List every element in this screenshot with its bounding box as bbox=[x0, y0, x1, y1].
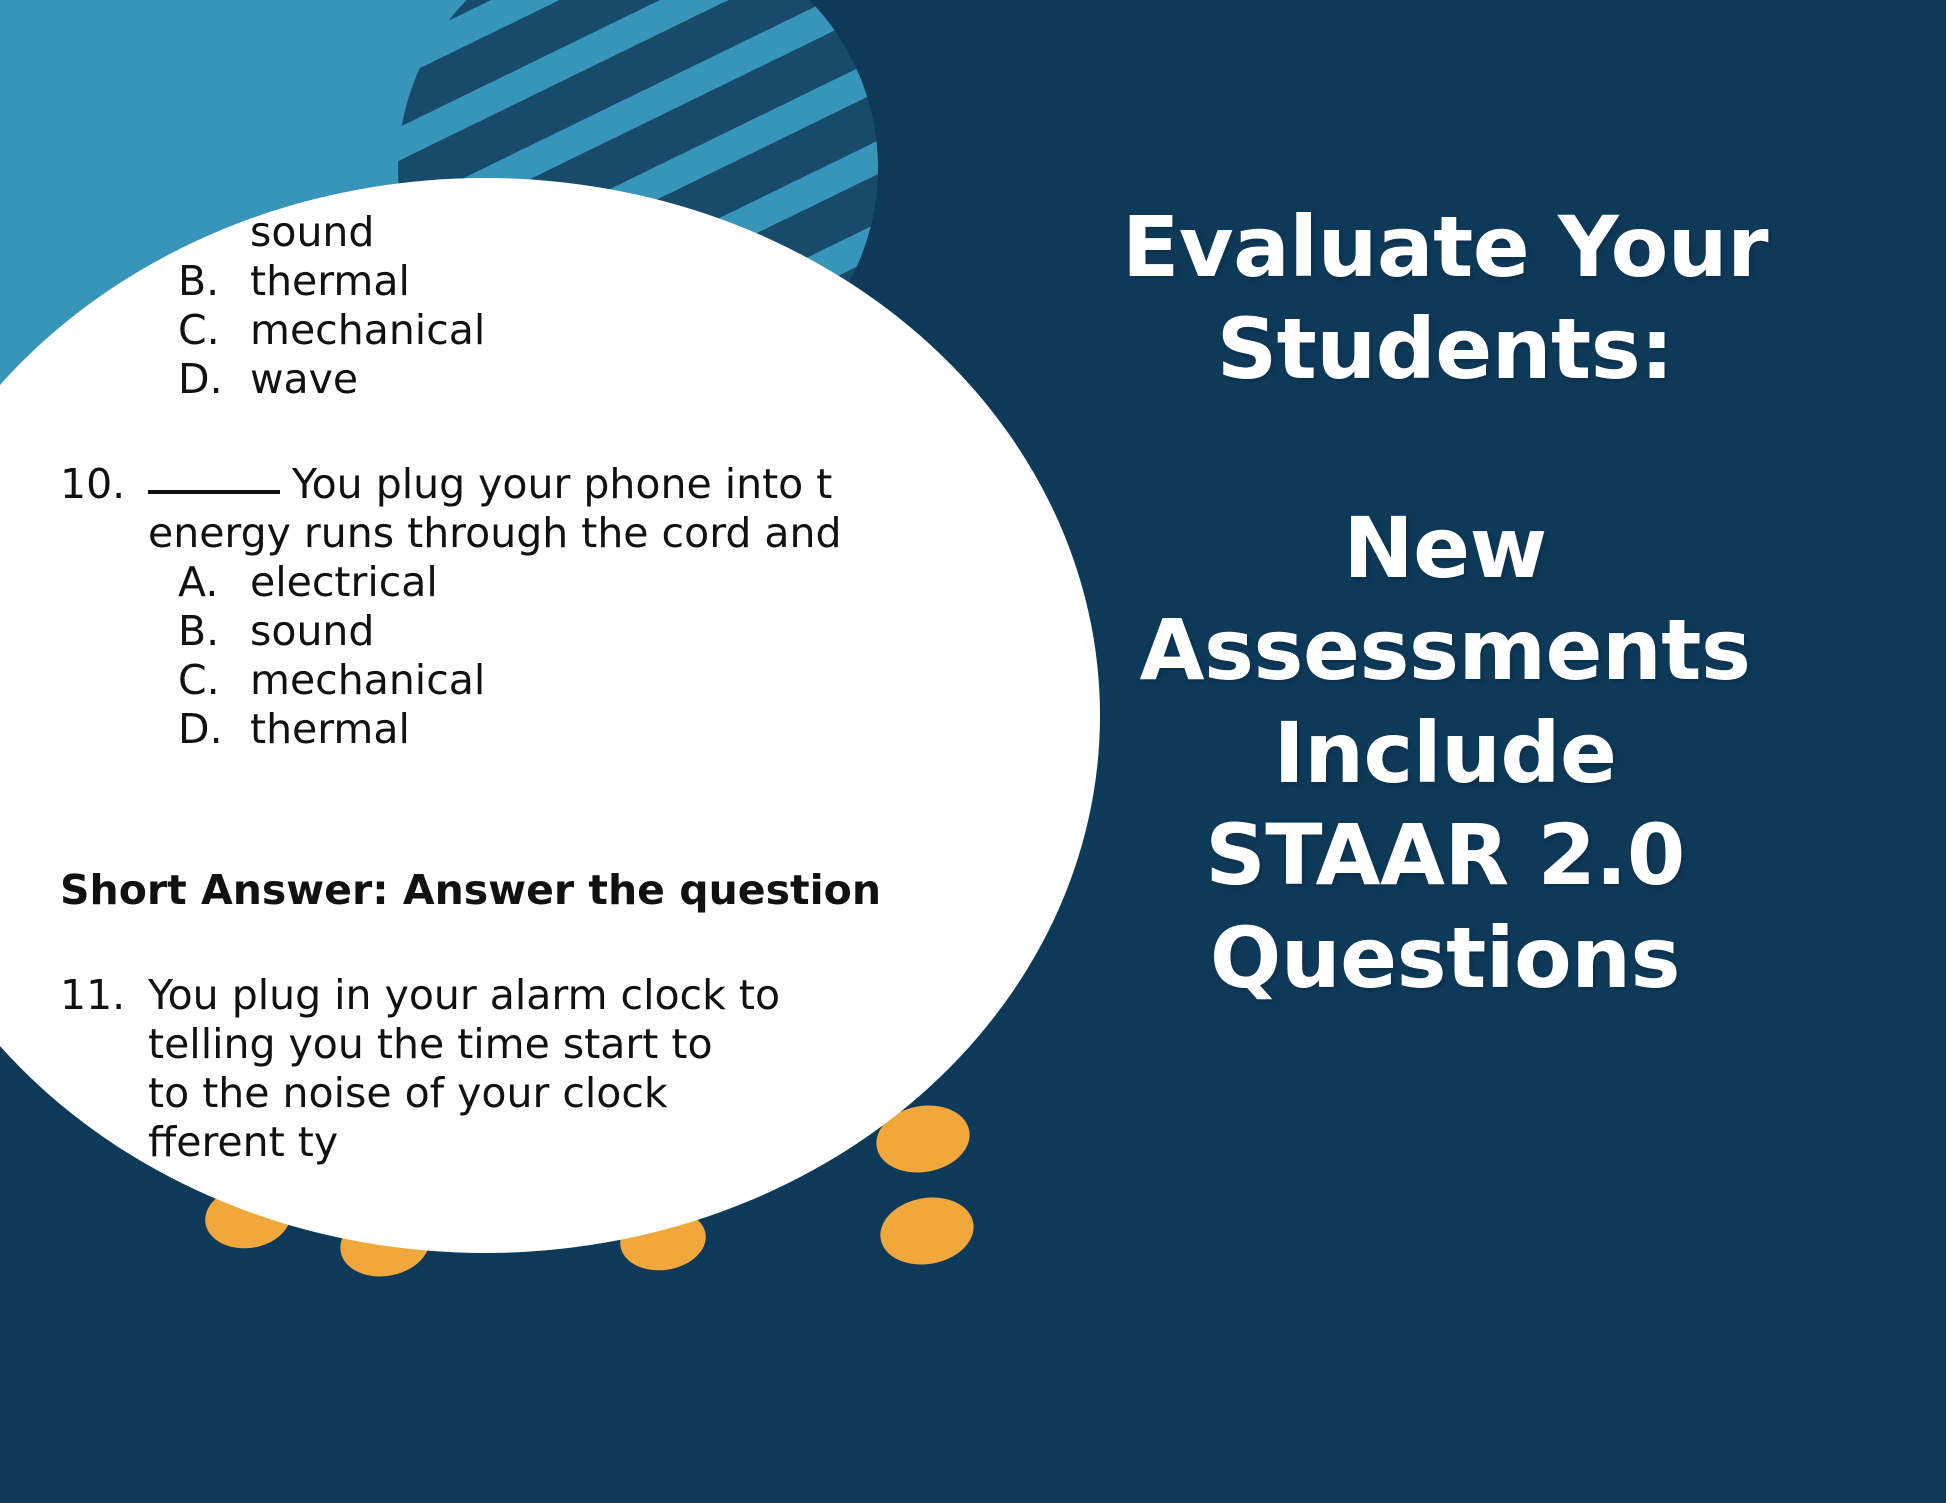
worksheet-blank-line bbox=[60, 754, 1010, 810]
option-text: sound bbox=[250, 208, 374, 256]
question-text: You plug your phone into t bbox=[292, 460, 832, 508]
worksheet-answer-option: A.electrical bbox=[60, 558, 1010, 607]
worksheet-circle: soundB.thermalC.mechanicalD.wave10.You p… bbox=[0, 178, 1100, 1253]
headline-part1: Evaluate Your Students: bbox=[955, 196, 1935, 401]
headline-line: Include bbox=[955, 702, 1935, 804]
option-text: wave bbox=[250, 355, 358, 403]
option-letter: C. bbox=[178, 656, 250, 704]
headline-line: Questions bbox=[955, 907, 1935, 1009]
option-text: sound bbox=[250, 607, 374, 655]
worksheet-text: soundB.thermalC.mechanicalD.wave10.You p… bbox=[60, 208, 1010, 1167]
question-text: You plug in your alarm clock to bbox=[148, 971, 780, 1019]
worksheet-answer-option: B.sound bbox=[60, 607, 1010, 656]
option-letter: C. bbox=[178, 306, 250, 354]
option-text: thermal bbox=[250, 257, 410, 305]
headline-spacer bbox=[955, 401, 1935, 497]
worksheet-question-line: 10.You plug your phone into t bbox=[60, 460, 1010, 509]
option-letter: B. bbox=[178, 257, 250, 305]
worksheet-blank-line bbox=[60, 404, 1010, 460]
headline-line: STAAR 2.0 bbox=[955, 804, 1935, 906]
worksheet-answer-option: D.thermal bbox=[60, 705, 1010, 754]
option-text: mechanical bbox=[250, 656, 485, 704]
worksheet-question-continuation: energy runs through the cord and bbox=[60, 509, 1010, 558]
worksheet-section-heading: Short Answer: Answer the question bbox=[60, 866, 1010, 915]
poster-canvas: soundB.thermalC.mechanicalD.wave10.You p… bbox=[0, 0, 1946, 1503]
option-text: electrical bbox=[250, 558, 438, 606]
worksheet-question-continuation: to the noise of your clock bbox=[60, 1069, 1010, 1118]
worksheet-blank-line bbox=[60, 915, 1010, 971]
option-letter: D. bbox=[178, 705, 250, 753]
answer-blank bbox=[148, 490, 280, 494]
option-letter: B. bbox=[178, 607, 250, 655]
option-letter: A. bbox=[178, 558, 250, 606]
headline-line: Assessments bbox=[955, 599, 1935, 701]
option-text: thermal bbox=[250, 705, 410, 753]
question-number: 10. bbox=[60, 460, 148, 508]
orange-dot bbox=[875, 1190, 979, 1271]
worksheet-answer-option: sound bbox=[60, 208, 1010, 257]
worksheet-answer-option: D.wave bbox=[60, 355, 1010, 404]
headline-part2: New Assessments Include STAAR 2.0 Questi… bbox=[955, 497, 1935, 1009]
worksheet-blank-line bbox=[60, 810, 1010, 866]
worksheet-answer-option: C.mechanical bbox=[60, 306, 1010, 355]
worksheet-question-continuation: telling you the time start to bbox=[60, 1020, 1010, 1069]
headline-line: Students: bbox=[955, 298, 1935, 400]
worksheet-answer-option: B.thermal bbox=[60, 257, 1010, 306]
headline-block: Evaluate Your Students: New Assessments … bbox=[955, 196, 1935, 1009]
headline-line: New bbox=[955, 497, 1935, 599]
worksheet-question-line: 11.You plug in your alarm clock to bbox=[60, 971, 1010, 1020]
option-letter: D. bbox=[178, 355, 250, 403]
worksheet-answer-option: C.mechanical bbox=[60, 656, 1010, 705]
headline-line: Evaluate Your bbox=[955, 196, 1935, 298]
option-text: mechanical bbox=[250, 306, 485, 354]
worksheet-question-continuation: fferent ty bbox=[60, 1118, 1010, 1167]
question-number: 11. bbox=[60, 971, 148, 1019]
